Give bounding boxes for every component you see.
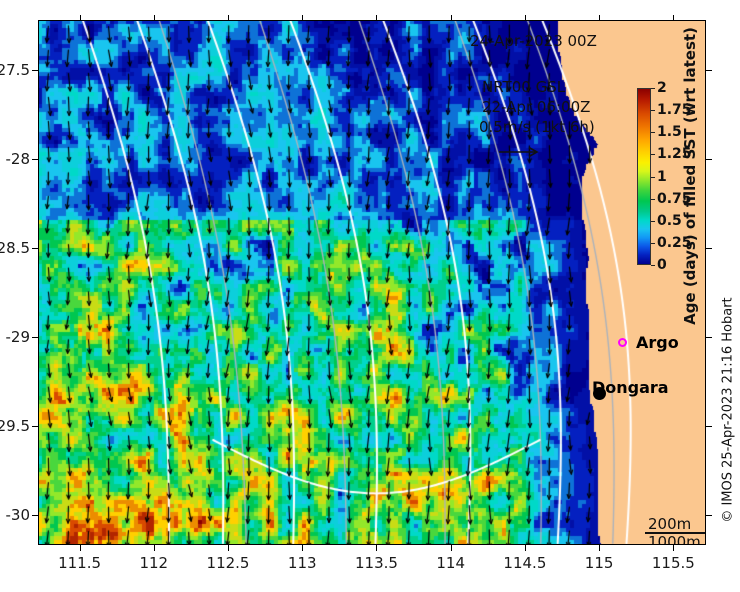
- argo-marker-icon: [618, 338, 627, 347]
- x-tick: [599, 545, 600, 551]
- colorbar-tick: [651, 177, 655, 178]
- map-plot-area[interactable]: 24-Apr-2023 00Z NRT00 GSL 22-Apr 06:00Z …: [38, 20, 706, 545]
- x-tick-label: 112.5: [207, 554, 250, 572]
- x-tick: [673, 545, 674, 551]
- x-tick-label: 115: [585, 554, 614, 572]
- colorbar-tick-label: 0: [657, 257, 667, 273]
- right-arrow-icon: [498, 146, 542, 158]
- x-tick-top: [80, 15, 81, 21]
- x-tick-top: [228, 15, 229, 21]
- x-tick-label: 113.5: [355, 554, 398, 572]
- x-tick: [376, 545, 377, 551]
- source-time-label: 22-Apr 06:00Z: [482, 98, 590, 116]
- colorbar-tick: [651, 132, 655, 133]
- x-tick: [525, 545, 526, 551]
- x-tick-top: [302, 15, 303, 21]
- colorbar-tick-label: 2: [657, 80, 667, 96]
- y-tick-right: [706, 515, 712, 516]
- y-tick-right: [706, 248, 712, 249]
- colorbar-tick-label: 0.5: [657, 213, 682, 229]
- colorbar-tick: [651, 243, 655, 244]
- colorbar-tick: [651, 221, 655, 222]
- y-tick-label: -29.5: [0, 417, 30, 435]
- x-tick-top: [599, 15, 600, 21]
- y-tick-right: [706, 337, 712, 338]
- y-tick-label: -29: [6, 328, 31, 346]
- x-tick-top: [154, 15, 155, 21]
- x-tick-label: 114.5: [503, 554, 546, 572]
- x-tick: [302, 545, 303, 551]
- x-tick: [154, 545, 155, 551]
- x-tick-top: [376, 15, 377, 21]
- colorbar-tick: [651, 199, 655, 200]
- argo-legend-label: Argo: [636, 333, 679, 352]
- x-tick-label: 112: [139, 554, 168, 572]
- y-tick: [32, 337, 38, 338]
- credit-text: © IMOS 25-Apr-2023 21:16 Hobart: [721, 297, 736, 522]
- y-tick: [32, 159, 38, 160]
- depth-1000m-label: 1000m: [648, 533, 701, 545]
- x-tick-label: 115.5: [652, 554, 695, 572]
- colorbar-tick: [651, 88, 655, 89]
- source-product-label: NRT00 GSL: [482, 78, 565, 96]
- colorbar-tick: [651, 110, 655, 111]
- y-tick-right: [706, 426, 712, 427]
- colorbar-tick-label: 1: [657, 169, 667, 185]
- x-tick-top: [451, 15, 452, 21]
- y-tick-right: [706, 159, 712, 160]
- dongara-place-label: Dongara: [592, 378, 669, 397]
- y-tick: [32, 70, 38, 71]
- depth-200m-label: 200m: [648, 515, 691, 533]
- contours-and-vectors-overlay: [38, 20, 706, 545]
- x-tick-top: [673, 15, 674, 21]
- x-tick-top: [525, 15, 526, 21]
- y-tick-label: -27.5: [0, 61, 30, 79]
- sst-age-map-figure: 24-Apr-2023 00Z NRT00 GSL 22-Apr 06:00Z …: [0, 0, 740, 592]
- x-tick-label: 111.5: [58, 554, 101, 572]
- y-tick-label: -30: [6, 506, 31, 524]
- colorbar-tick: [651, 154, 655, 155]
- x-tick-label: 114: [436, 554, 465, 572]
- x-tick-label: 113: [288, 554, 317, 572]
- y-tick-label: -28.5: [0, 239, 30, 257]
- colorbar-tick: [651, 265, 655, 266]
- colorbar-title: Age (days) of filled SST (wrt latest): [681, 27, 699, 325]
- date-stamp: 24-Apr-2023 00Z: [470, 32, 597, 50]
- colorbar-tick-label: 1.5: [657, 124, 682, 140]
- velocity-scale-label: 0.5m/s (1kt 6h): [479, 118, 595, 136]
- x-tick: [80, 545, 81, 551]
- y-tick-label: -28: [6, 150, 31, 168]
- y-tick: [32, 515, 38, 516]
- x-tick: [228, 545, 229, 551]
- y-tick: [32, 248, 38, 249]
- x-tick: [451, 545, 452, 551]
- colorbar-gradient: [637, 88, 651, 265]
- y-tick-right: [706, 70, 712, 71]
- y-tick: [32, 426, 38, 427]
